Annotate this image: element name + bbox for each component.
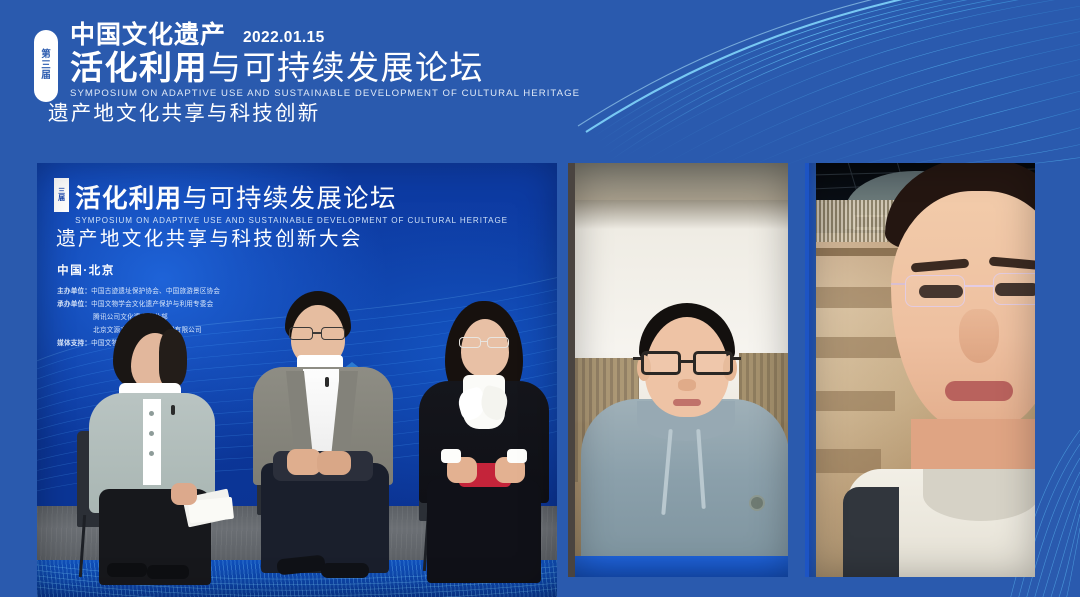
glasses-temple (633, 357, 641, 360)
remote-participant-body (867, 163, 1035, 577)
led-english-subtitle: SYMPOSIUM ON ADAPTIVE USE AND SUSTAINABL… (75, 216, 543, 225)
eyeglasses (289, 327, 347, 341)
eyeglasses-rimless (901, 275, 1035, 309)
shirt-collar (923, 469, 1035, 521)
glasses-temple (733, 357, 741, 360)
credit-label: 承办单位： (57, 301, 91, 308)
trousers (427, 479, 541, 583)
video-panel-remote-terracotta[interactable] (805, 163, 1035, 577)
eyeglasses (637, 351, 737, 377)
mouth (945, 381, 1013, 401)
hand (317, 451, 351, 475)
lapel-microphone (325, 377, 329, 387)
led-city: 中国·北京 (57, 262, 543, 278)
ceiling (575, 163, 788, 200)
button (149, 431, 154, 436)
edition-badge: 第 三 届 (34, 30, 58, 102)
led-title-light: 与可持续发展论坛 (182, 185, 396, 213)
led-badge-char-2: 届 (58, 195, 65, 203)
event-title-block: 第 三 届 中国文化遗产 2022.01.15 活化利用 与可持续发展论坛 SY… (34, 18, 574, 125)
panel-left-blue-edge (809, 163, 816, 577)
hand (171, 483, 197, 505)
shoe (107, 563, 147, 577)
shirt-cuff (441, 449, 461, 463)
nose (959, 309, 999, 363)
participant-guest-female (415, 301, 553, 577)
main-title-strong: 活化利用 (70, 51, 208, 84)
led-title-strong: 活化利用 (75, 185, 182, 213)
credit-value: 中国古迹遗址保护协会、中国旅游景区协会 (91, 288, 220, 295)
bottom-blue-strip (575, 556, 788, 577)
hand (287, 449, 321, 475)
header-english-subtitle: SYMPOSIUM ON ADAPTIVE USE AND SUSTAINABL… (70, 88, 574, 99)
eyeglasses (459, 337, 511, 349)
led-edition-badge: 三 届 (54, 178, 69, 212)
broadcast-screen: { "header": { "badge_chars": ["第","三","届… (0, 0, 1080, 597)
shoe (147, 565, 189, 579)
hoodie-logo-patch (749, 495, 765, 511)
credit-value: 中国文物学会文化遗产保护与利用专委会 (91, 301, 213, 308)
video-panel-studio[interactable]: 三 届 活化利用与可持续发展论坛 SYMPOSIUM ON ADAPTIVE U… (37, 163, 557, 597)
heritage-label: 中国文化遗产 (70, 23, 226, 48)
event-date: 2022.01.15 (243, 29, 325, 47)
header-sub-title: 遗产地文化共享与科技创新 (48, 104, 574, 125)
video-panel-remote-young-man[interactable] (568, 163, 788, 577)
shoe (321, 563, 369, 578)
remote-participant-body (581, 303, 788, 563)
credit-label: 主办单位： (57, 288, 91, 295)
participant-moderator (85, 313, 225, 577)
shirt-cuff (507, 449, 527, 463)
jacket-shoulder (843, 487, 899, 577)
nose (678, 379, 696, 391)
header-main-title: 活化利用 与可持续发展论坛 (70, 51, 574, 84)
button (149, 451, 154, 456)
lapel-microphone (171, 405, 175, 415)
edition-badge-char-3: 届 (41, 71, 51, 82)
glasses-temple (891, 283, 905, 285)
led-sub-title: 遗产地文化共享与科技创新大会 (56, 230, 543, 250)
main-title-light: 与可持续发展论坛 (208, 51, 484, 84)
participant-guest-male (247, 291, 397, 579)
hair-side (159, 329, 187, 387)
button (149, 411, 154, 416)
mouth (673, 399, 701, 406)
header-line-top: 中国文化遗产 2022.01.15 (34, 18, 574, 48)
